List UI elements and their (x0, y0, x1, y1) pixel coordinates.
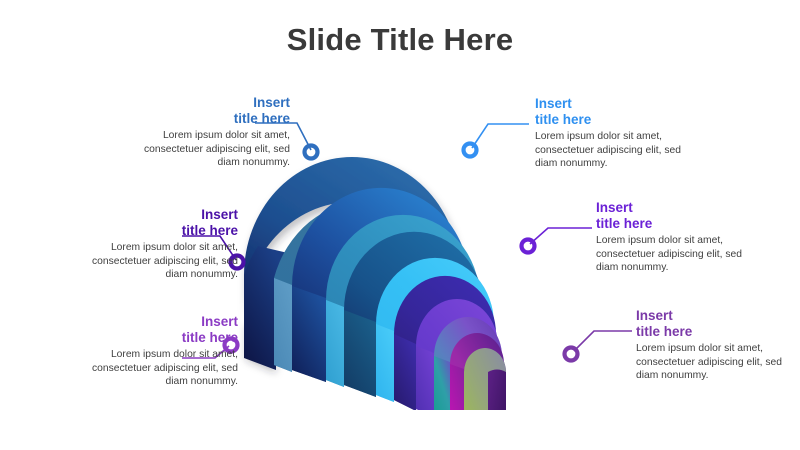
callout-middle-right[interactable]: Insert title here Lorem ipsum dolor sit … (596, 200, 756, 275)
callout-title-line2: title here (182, 223, 238, 238)
callout-title: Insert title here (535, 96, 695, 128)
callout-title: Insert title here (130, 95, 290, 127)
callout-body: Lorem ipsum dolor sit amet, consectetuer… (535, 130, 695, 171)
callout-title-line1: Insert (201, 314, 238, 329)
callout-title: Insert title here (596, 200, 756, 232)
callout-bottom-left[interactable]: Insert title here Lorem ipsum dolor sit … (78, 314, 238, 389)
callout-body: Lorem ipsum dolor sit amet, consectetuer… (596, 234, 756, 275)
callout-bottom-right[interactable]: Insert title here Lorem ipsum dolor sit … (636, 308, 796, 383)
callout-body: Lorem ipsum dolor sit amet, consectetuer… (78, 241, 238, 282)
callout-title: Insert title here (636, 308, 796, 340)
slide-canvas: Slide Title Here (0, 0, 800, 450)
callout-title: Insert title here (78, 207, 238, 239)
callout-title-line2: title here (596, 216, 652, 231)
arch-layer-11[interactable] (464, 348, 506, 410)
callout-top-left[interactable]: Insert title here Lorem ipsum dolor sit … (130, 95, 290, 170)
callout-title-line2: title here (182, 330, 238, 345)
callout-title-line1: Insert (253, 95, 290, 110)
callout-title-line1: Insert (596, 200, 633, 215)
callout-top-right[interactable]: Insert title here Lorem ipsum dolor sit … (535, 96, 695, 171)
callout-title-line2: title here (234, 111, 290, 126)
callout-title-line1: Insert (535, 96, 572, 111)
callout-body: Lorem ipsum dolor sit amet, consectetuer… (78, 348, 238, 389)
callout-body: Lorem ipsum dolor sit amet, consectetuer… (636, 342, 796, 383)
callout-body: Lorem ipsum dolor sit amet, consectetuer… (130, 129, 290, 170)
callout-title-line2: title here (636, 324, 692, 339)
callout-middle-left[interactable]: Insert title here Lorem ipsum dolor sit … (78, 207, 238, 282)
page-title: Slide Title Here (0, 22, 800, 58)
callout-title-line2: title here (535, 112, 591, 127)
callout-title: Insert title here (78, 314, 238, 346)
callout-title-line1: Insert (201, 207, 238, 222)
callout-title-line1: Insert (636, 308, 673, 323)
